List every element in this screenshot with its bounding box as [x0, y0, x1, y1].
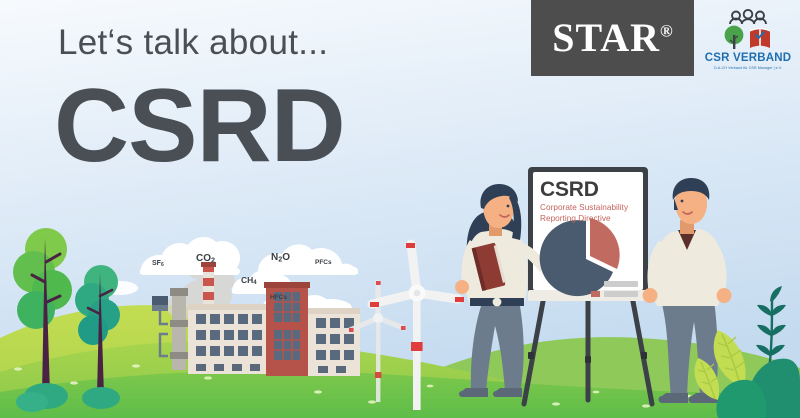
star-logo-badge: STAR®	[531, 0, 694, 76]
csr-verband-logo: CSR VERBAND D-A-CH Verband für CSR Manag…	[704, 8, 792, 78]
leaf-small-yellow	[694, 358, 719, 400]
leaf-large-yellow	[714, 330, 746, 386]
registered-trademark-icon: ®	[660, 22, 673, 41]
csr-verband-logo-name: CSR VERBAND	[704, 53, 792, 65]
people-icon	[730, 10, 766, 24]
book-icon	[750, 29, 770, 48]
star-logo-text: STAR®	[552, 18, 672, 58]
infographic-banner: Let‘s talk about... CSRD STAR®	[0, 0, 800, 418]
tree-icon	[725, 26, 744, 49]
star-logo-label: STAR	[552, 15, 660, 60]
csr-verband-logo-subtitle: D-A-CH Verband für CSR Manager | e.V.	[703, 66, 793, 70]
csr-verband-logo-icon	[704, 8, 792, 52]
